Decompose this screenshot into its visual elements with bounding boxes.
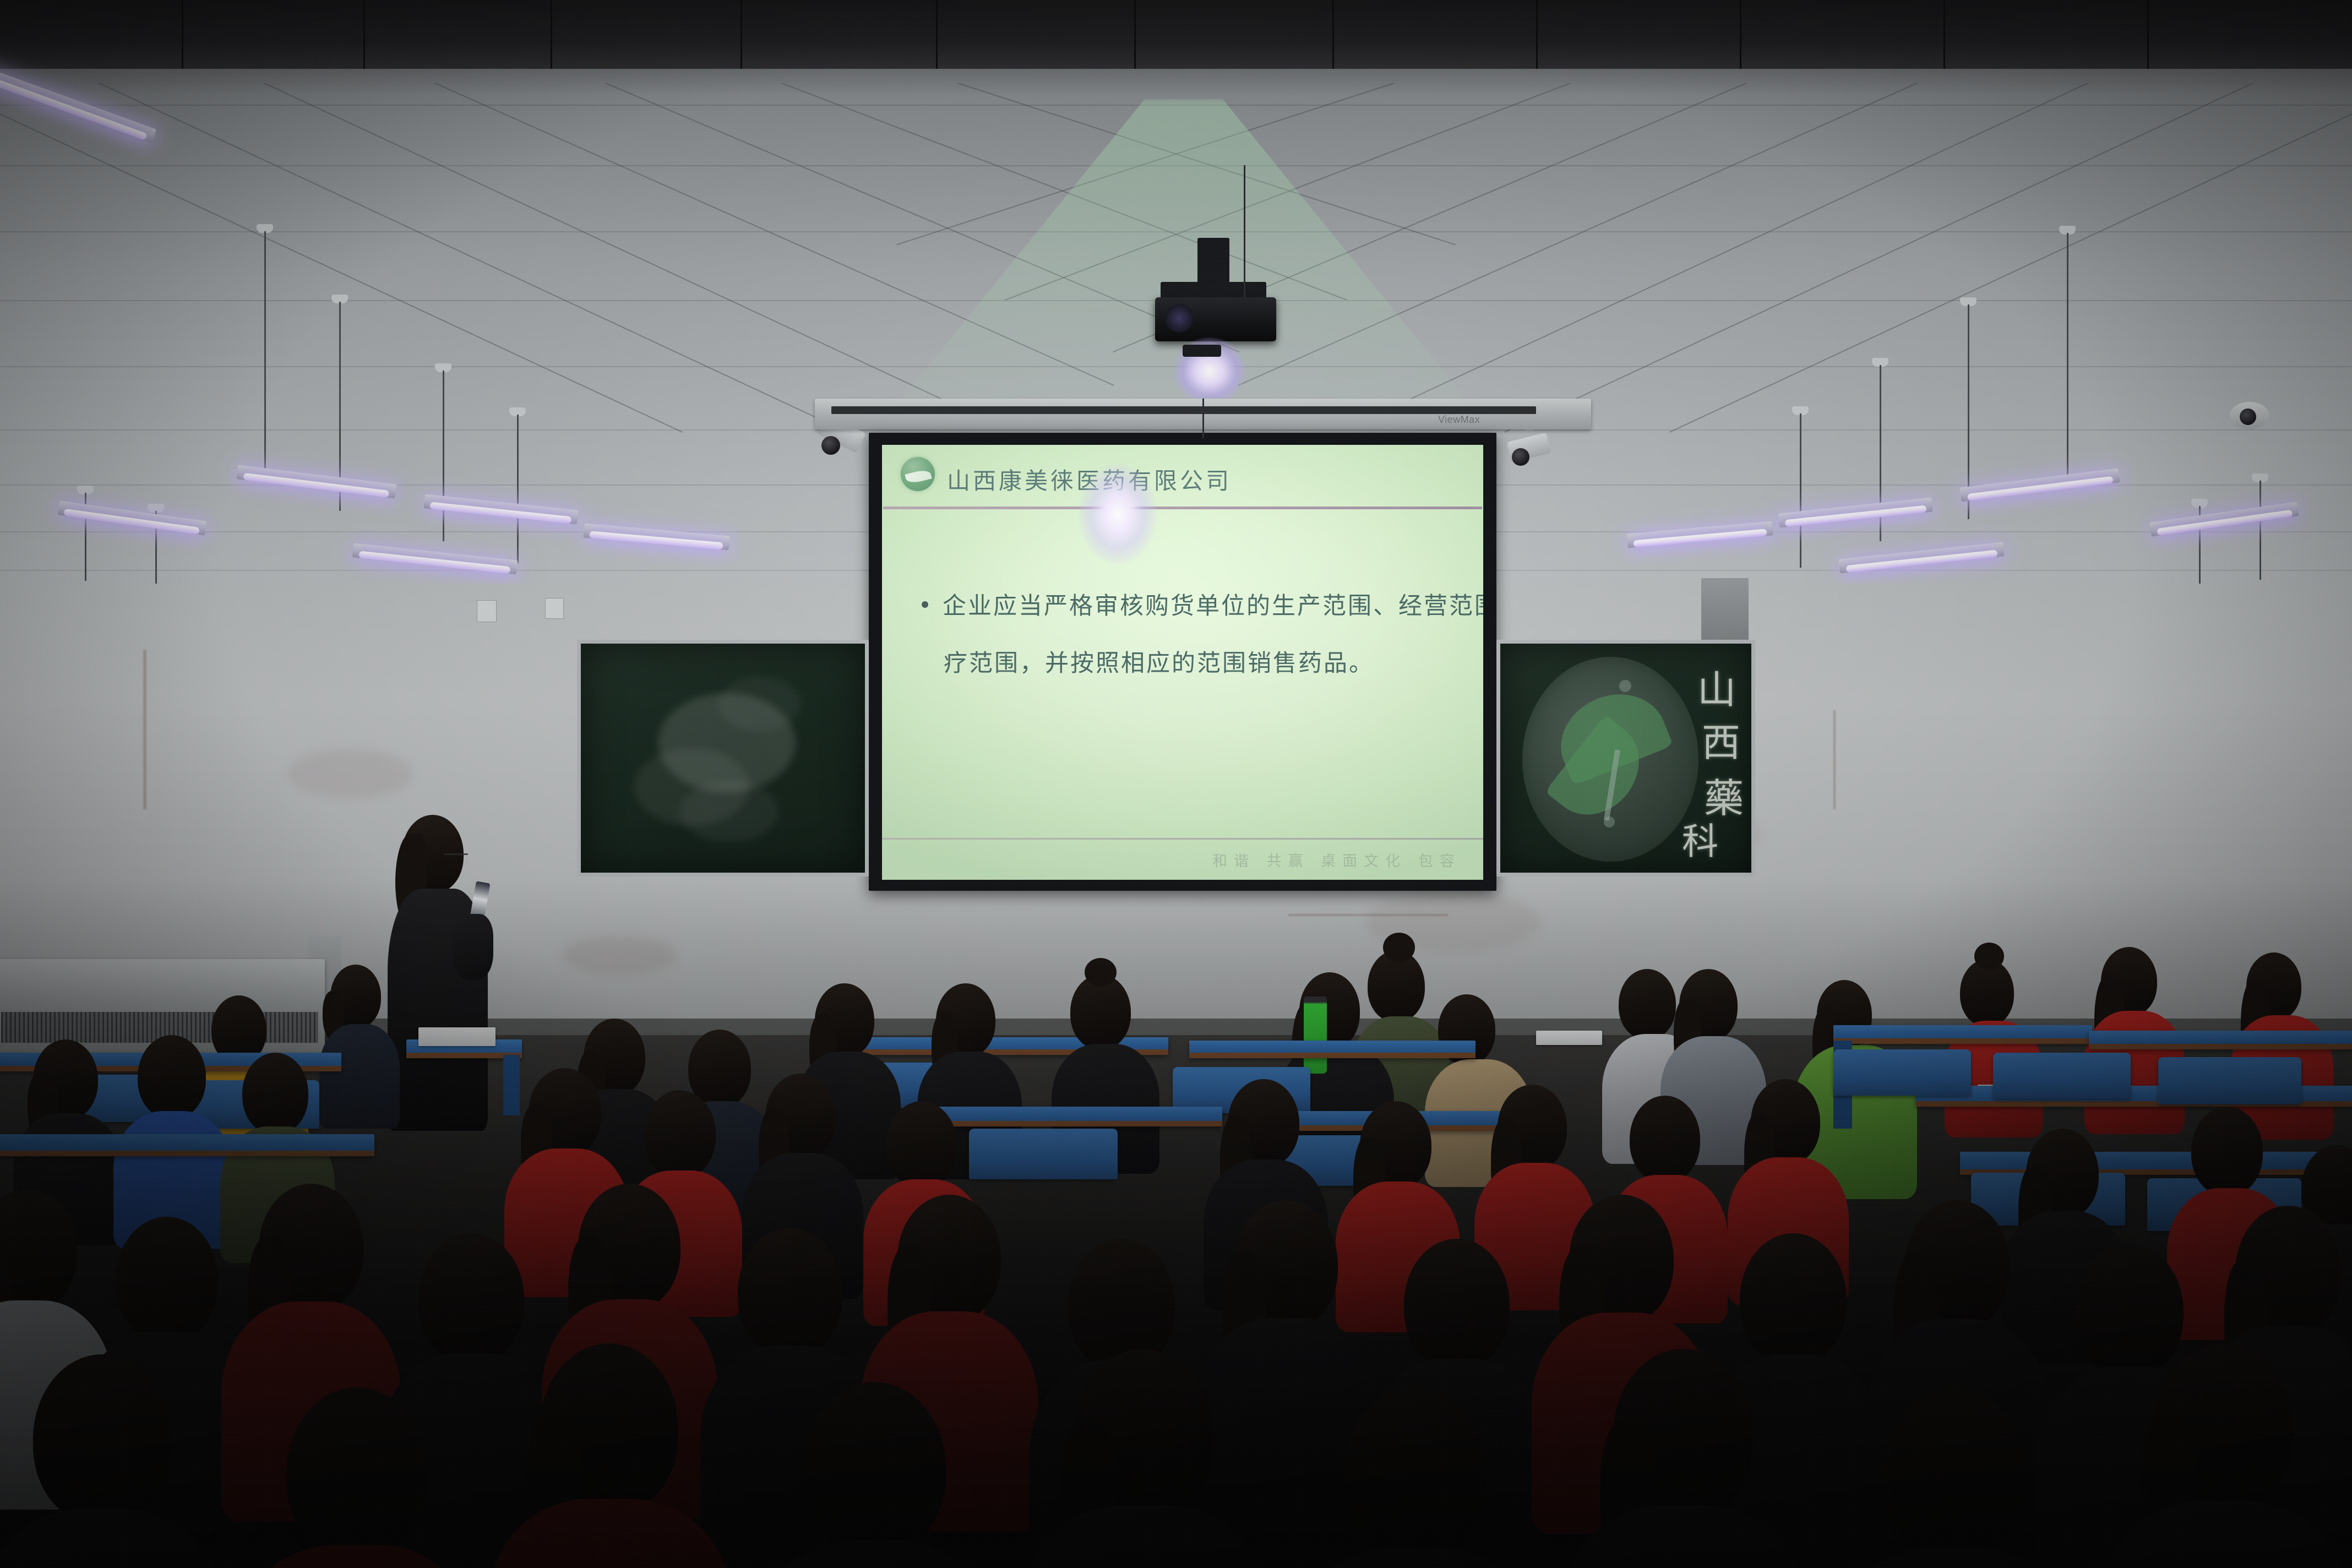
student-desk: [1960, 1152, 2352, 1175]
student-desk: [0, 1134, 374, 1156]
blackboard-left: [577, 640, 869, 876]
screen-hanging-cable: [1202, 399, 1204, 438]
wall-socket: [545, 598, 564, 619]
student-desk: [1833, 1025, 2092, 1044]
presenter-arm: [453, 914, 493, 980]
projector-bracket: [1183, 345, 1221, 357]
chalk-char-1: 山: [1697, 659, 1736, 715]
student-desk: [914, 1107, 1222, 1126]
fluorescent-light-fixture: [1959, 468, 2120, 502]
light-hanger-rod: [2067, 233, 2068, 486]
chair-back: [1993, 1053, 2131, 1099]
light-hanger-rod: [517, 415, 519, 563]
slide-body-line-1: 企业应当严格审核购货单位的生产范围、经营范围或者诊: [943, 587, 1483, 621]
wall-socket: [477, 600, 497, 622]
green-water-bottle: [1304, 997, 1327, 1074]
fluorescent-light-fixture: [236, 465, 396, 498]
student-desk: [1189, 1041, 1476, 1058]
screen-brand-label: ViewMax: [1438, 414, 1480, 426]
light-hanger-rod: [264, 231, 266, 479]
presenter-glasses: [444, 853, 468, 855]
lecture-hall-scene: ViewMax 山西康美徕医药有限公司 企业应当严格审核购货单位的生产范围、经营…: [0, 0, 2352, 1568]
chair-back: [2158, 1057, 2301, 1104]
chair-back: [1833, 1049, 1971, 1096]
slide-footer-rule: [882, 838, 1483, 840]
fluorescent-light-fixture: [1838, 542, 2004, 573]
fluorescent-light-fixture: [1626, 521, 1773, 548]
slide-company-logo: [901, 457, 935, 491]
light-hanger-rod: [2260, 481, 2261, 580]
student-desk: [2089, 1031, 2352, 1049]
slide-body-line-2: 疗范围，并按照相应的范围销售药品。: [944, 644, 1374, 678]
fluorescent-light-fixture: [583, 524, 729, 551]
chair-back: [969, 1129, 1118, 1179]
projector-lamp-hotspot: [1079, 465, 1156, 564]
blackboard-right: 山 西 藥 科: [1496, 640, 1755, 876]
projection-screen-surface: 山西康美徕医药有限公司 企业应当严格审核购货单位的生产范围、经营范围或者诊 疗范…: [882, 445, 1483, 880]
light-hanger-rod: [443, 371, 444, 541]
slide-header-rule: [883, 507, 1482, 509]
chalk-char-4: 科: [1682, 812, 1718, 865]
fluorescent-light-fixture: [423, 494, 578, 524]
ceiling-dark-beam: [0, 0, 2352, 69]
open-notebook: [418, 1027, 496, 1046]
fluorescent-light-fixture: [58, 500, 207, 535]
chalk-ginkgo-emblem: [1522, 657, 1698, 862]
wall-speaker-box: [1701, 578, 1749, 650]
chalk-char-2: 西: [1702, 712, 1740, 767]
slide-footer-text: 和谐 共赢 桌面文化 包容: [1212, 849, 1461, 870]
open-notebook: [1536, 1031, 1602, 1045]
slide-bullet-marker: [922, 601, 928, 608]
projector-cable: [1244, 165, 1245, 297]
projector-lens: [1165, 304, 1194, 333]
light-hanger-rod: [1800, 413, 1801, 568]
